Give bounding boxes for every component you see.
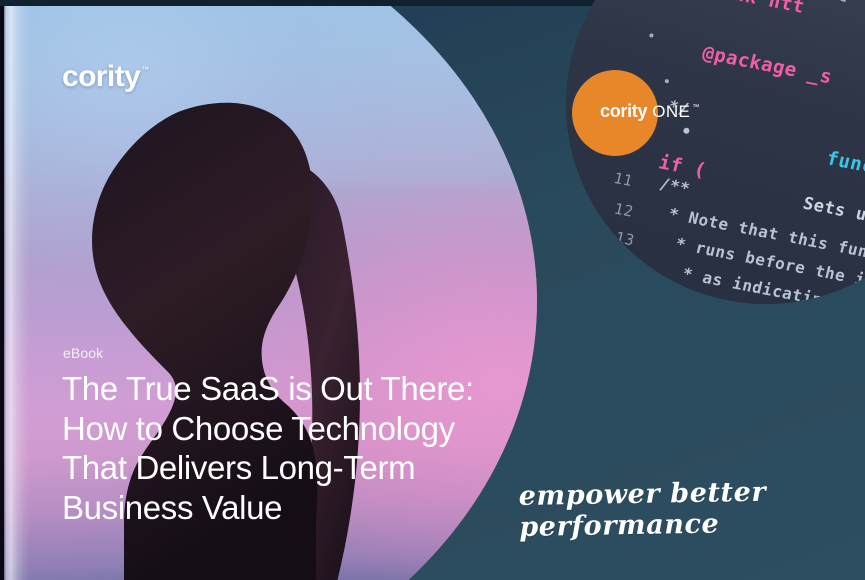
book-spine-edge [0,6,4,580]
bokeh-dot [649,33,654,38]
code-line: @link htt [696,0,807,18]
ebook-cover: cority™ eBook The True SaaS is Out There… [0,6,560,580]
headline-line-2: How to Choose Technology [62,409,502,449]
badge-trademark-icon: ™ [692,104,699,111]
code-gutter-number: 14 [615,257,638,278]
badge-brand-text: cority [600,101,647,122]
ebook-cover-screenshot: @link htt htt @package _s */ function_ex… [0,0,865,580]
book-spine-highlight [0,6,30,580]
badge-product-text: ONE [652,102,690,122]
code-photo-inner: @link htt htt @package _s */ function_ex… [559,0,865,311]
code-gutter-number: 12 [612,200,635,221]
code-gutter-number: 11 [612,169,635,190]
logo-text: cority [62,60,140,93]
code-line-url: htt [813,0,852,7]
cority-one-badge-label: cority ONE ™ [600,101,702,122]
logo-trademark-icon: ™ [141,65,148,74]
bokeh-dot [664,79,669,84]
page-title: The True SaaS is Out There: How to Choos… [62,369,502,527]
kicker-label: eBook [63,345,103,361]
headline-line-1: The True SaaS is Out There: [62,369,502,409]
code-photo: @link htt htt @package _s */ function_ex… [559,0,865,311]
headline-line-4: Business Value [62,488,502,528]
bokeh-dot [683,127,690,134]
cority-logo: cority™ [62,60,148,94]
code-gutter-number: 13 [613,228,636,249]
headline-line-3: That Delivers Long-Term [62,448,502,488]
tagline: empower better performance [518,475,865,543]
code-line: @package _s [700,42,834,88]
